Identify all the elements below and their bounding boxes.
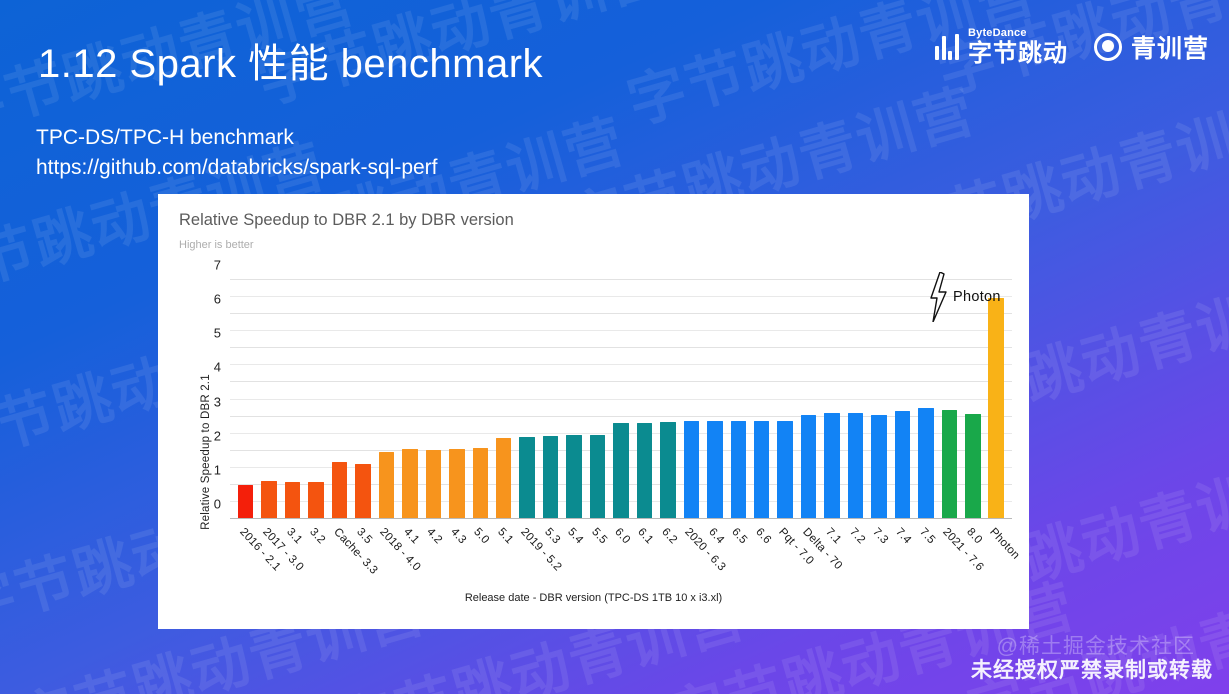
bar[interactable] <box>519 437 534 519</box>
lightning-bolt-icon <box>928 272 948 322</box>
x-tick-slot: Delta - 70 <box>797 522 820 602</box>
bar[interactable] <box>848 413 863 519</box>
x-tick-slot: 6.1 <box>633 522 656 602</box>
bar-column[interactable] <box>586 280 609 519</box>
x-tick-slot: 6.2 <box>656 522 679 602</box>
bar[interactable] <box>637 423 652 519</box>
bar-series <box>230 280 1012 519</box>
bar-column[interactable] <box>633 280 656 519</box>
x-tick-slot: 2017 - 3.0 <box>257 522 280 602</box>
page-title: 1.12 Spark 性能 benchmark <box>38 31 543 89</box>
bar[interactable] <box>543 436 558 519</box>
x-tick-slot: 8.0 <box>961 522 984 602</box>
x-tick-slot: 7.1 <box>820 522 843 602</box>
x-axis-tick-label: 3.1 <box>284 526 304 546</box>
bar-column[interactable] <box>328 280 351 519</box>
bar[interactable] <box>660 422 675 519</box>
x-tick-slot: Pqt - 7.0 <box>773 522 796 602</box>
x-tick-slot: 2020 - 6.3 <box>680 522 703 602</box>
bar-column[interactable] <box>656 280 679 519</box>
x-tick-slot: 5.1 <box>492 522 515 602</box>
bar[interactable] <box>332 462 347 519</box>
bar-column[interactable] <box>469 280 492 519</box>
x-tick-slot: 6.6 <box>750 522 773 602</box>
bar[interactable] <box>613 423 628 519</box>
bar-column[interactable] <box>867 280 890 519</box>
bar-column[interactable] <box>750 280 773 519</box>
bar[interactable] <box>754 421 769 519</box>
bar[interactable] <box>238 485 253 519</box>
bar-column[interactable] <box>539 280 562 519</box>
x-tick-slot: 7.2 <box>844 522 867 602</box>
x-axis-title: Release date - DBR version (TPC-DS 1TB 1… <box>158 592 1029 604</box>
bar[interactable] <box>590 435 605 519</box>
y-axis-tick-label: 0 <box>214 497 221 512</box>
bytedance-en-label: ByteDance <box>968 28 1068 39</box>
y-axis-tick-label: 7 <box>214 258 221 273</box>
bar-column[interactable] <box>891 280 914 519</box>
x-tick-slot: 4.2 <box>422 522 445 602</box>
bar-column[interactable] <box>257 280 280 519</box>
bar[interactable] <box>731 421 746 519</box>
x-tick-slot: Cache- 3.3 <box>328 522 351 602</box>
x-tick-slot: 3.1 <box>281 522 304 602</box>
bar-column[interactable] <box>773 280 796 519</box>
bar[interactable] <box>801 415 816 519</box>
subtitle-block: TPC-DS/TPC-H benchmark https://github.co… <box>36 123 438 183</box>
y-axis-tick-label: 1 <box>214 462 221 477</box>
bar[interactable] <box>918 408 933 519</box>
bar-column[interactable] <box>445 280 468 519</box>
x-axis-tick-label: 8.0 <box>964 526 984 546</box>
x-axis-tick-label: 7.1 <box>823 526 843 546</box>
benchmark-url[interactable]: https://github.com/databricks/spark-sql-… <box>36 153 438 183</box>
bar[interactable] <box>707 421 722 519</box>
bar[interactable] <box>426 450 441 519</box>
bar[interactable] <box>473 448 488 519</box>
x-axis-tick-label: 6.6 <box>753 526 773 546</box>
x-tick-slot: 6.0 <box>609 522 632 602</box>
bar-column[interactable] <box>281 280 304 519</box>
x-tick-slot: 2016 - 2.1 <box>234 522 257 602</box>
bar[interactable] <box>965 414 980 519</box>
x-axis-tick-label: 6.1 <box>636 526 656 546</box>
y-axis-tick-label: 6 <box>214 292 221 307</box>
plot-area: 01234567 <box>230 280 1012 519</box>
plot-wrap: Relative Speedup to DBR 2.1 01234567 201… <box>158 194 1029 629</box>
x-tick-slot: 5.4 <box>562 522 585 602</box>
y-axis-tick-label: 4 <box>214 360 221 375</box>
bar-column[interactable] <box>422 280 445 519</box>
bar-column[interactable] <box>562 280 585 519</box>
bar[interactable] <box>871 415 886 519</box>
x-tick-slot: 7.5 <box>914 522 937 602</box>
x-axis-tick-label: 3.5 <box>354 526 374 546</box>
x-axis-tick-label: 7.4 <box>894 526 914 546</box>
x-tick-slot: 4.1 <box>398 522 421 602</box>
x-tick-slot: 6.4 <box>703 522 726 602</box>
bar[interactable] <box>496 438 511 519</box>
bar[interactable] <box>379 452 394 519</box>
x-tick-slot: 2019 - 5.2 <box>515 522 538 602</box>
x-axis-tick-label: 5.0 <box>471 526 491 546</box>
bar-column[interactable] <box>515 280 538 519</box>
x-tick-slot: 6.5 <box>727 522 750 602</box>
y-axis-tick-label: 2 <box>214 428 221 443</box>
brand-bar: ByteDance 字节跳动 青训营 <box>935 28 1209 66</box>
bar-column[interactable] <box>844 280 867 519</box>
bar[interactable] <box>895 411 910 519</box>
bar-column[interactable] <box>351 280 374 519</box>
bar[interactable] <box>402 449 417 519</box>
qingxunying-circle-icon <box>1094 33 1122 61</box>
bar-column[interactable] <box>234 280 257 519</box>
bar[interactable] <box>684 421 699 519</box>
x-axis-tick-label: 5.4 <box>565 526 585 546</box>
x-axis-tick-label: 7.5 <box>917 526 937 546</box>
x-axis-tick-label: 4.2 <box>425 526 445 546</box>
x-axis-baseline <box>230 518 1012 520</box>
qingxunying-logo: 青训营 <box>1094 29 1209 65</box>
watermark-text: 字节跳动青训营 <box>617 0 1044 140</box>
x-tick-slot: 3.5 <box>351 522 374 602</box>
bar[interactable] <box>566 435 581 519</box>
y-axis-tick-label: 3 <box>214 394 221 409</box>
bar[interactable] <box>824 413 839 519</box>
bytedance-bars-icon <box>935 34 959 60</box>
x-tick-slot: 7.3 <box>867 522 890 602</box>
qingxunying-label: 青训营 <box>1131 29 1209 65</box>
x-axis-tick-label: 6.2 <box>659 526 679 546</box>
x-tick-slot: 5.0 <box>469 522 492 602</box>
x-axis-tick-label: 5.5 <box>589 526 609 546</box>
bar[interactable] <box>308 482 323 519</box>
bar[interactable] <box>261 481 276 519</box>
bar-column[interactable] <box>398 280 421 519</box>
benchmark-subtitle: TPC-DS/TPC-H benchmark <box>36 123 438 153</box>
x-tick-slot: 3.2 <box>304 522 327 602</box>
x-axis-tick-label: 7.2 <box>847 526 867 546</box>
x-axis-tick-label: 5.1 <box>495 526 515 546</box>
chart-card: Relative Speedup to DBR 2.1 by DBR versi… <box>158 194 1029 629</box>
x-axis-tick-label: 7.3 <box>870 526 890 546</box>
bar[interactable] <box>988 298 1003 519</box>
x-axis-tick-label: Photon <box>987 526 1021 562</box>
x-tick-slot: 5.3 <box>539 522 562 602</box>
x-tick-slot: Photon <box>985 522 1008 602</box>
bar-column[interactable] <box>680 280 703 519</box>
x-tick-slot: 2021 - 7.6 <box>938 522 961 602</box>
bar-column[interactable] <box>304 280 327 519</box>
bar-column[interactable] <box>727 280 750 519</box>
bar[interactable] <box>355 464 370 519</box>
photon-annotation-label: Photon <box>953 289 1001 305</box>
y-axis-title: Relative Speedup to DBR 2.1 <box>200 337 212 567</box>
bar[interactable] <box>285 482 300 519</box>
bar-column[interactable] <box>492 280 515 519</box>
x-tick-slot: 2018 - 4.0 <box>375 522 398 602</box>
x-axis-tick-label: 3.2 <box>307 526 327 546</box>
x-axis-tick-labels: 2016 - 2.12017 - 3.03.13.2Cache- 3.33.52… <box>230 522 1012 602</box>
x-axis-tick-label: 6.5 <box>729 526 749 546</box>
bar-column[interactable] <box>797 280 820 519</box>
bar[interactable] <box>777 421 792 519</box>
x-axis-tick-label: 4.1 <box>401 526 421 546</box>
x-axis-tick-label: 5.3 <box>542 526 562 546</box>
bar[interactable] <box>942 410 957 519</box>
x-tick-slot: 7.4 <box>891 522 914 602</box>
y-axis-tick-label: 5 <box>214 326 221 341</box>
bar[interactable] <box>449 449 464 519</box>
bar-column[interactable] <box>375 280 398 519</box>
x-tick-slot: 5.5 <box>586 522 609 602</box>
x-axis-tick-label: 6.4 <box>706 526 726 546</box>
x-axis-tick-label: 4.3 <box>448 526 468 546</box>
bar-column[interactable] <box>703 280 726 519</box>
bytedance-cn-label: 字节跳动 <box>968 42 1068 66</box>
bytedance-logo: ByteDance 字节跳动 <box>935 28 1068 66</box>
bar-column[interactable] <box>820 280 843 519</box>
x-tick-slot: 4.3 <box>445 522 468 602</box>
photon-annotation: Photon <box>928 272 1001 322</box>
bar-column[interactable] <box>609 280 632 519</box>
footer-notice: 未经授权严禁录制或转载 <box>971 654 1213 684</box>
x-axis-tick-label: 6.0 <box>612 526 632 546</box>
